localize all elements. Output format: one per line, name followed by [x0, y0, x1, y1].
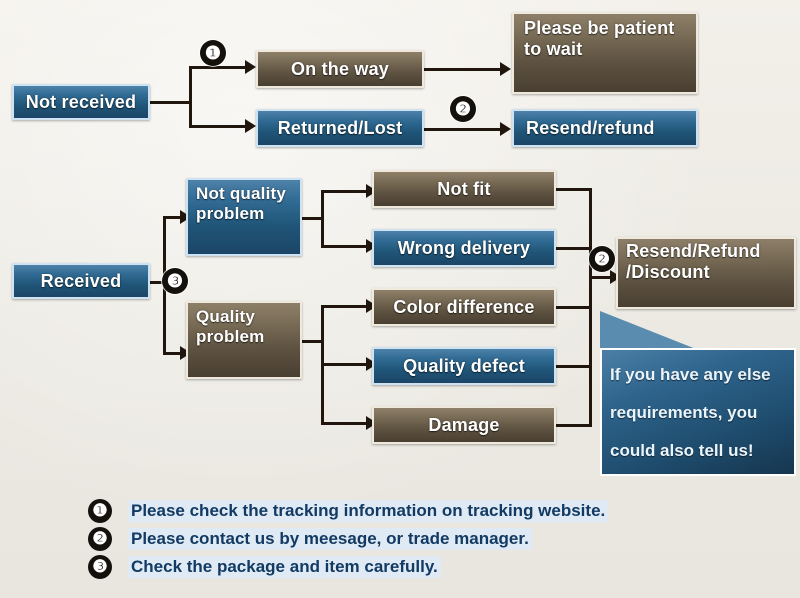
- node-not-quality-problem-line2: problem: [196, 204, 292, 224]
- legend-text-one: Please check the tracking information on…: [128, 500, 608, 522]
- legend-row: ❸ Check the package and item carefully.: [88, 553, 768, 581]
- connector-to-damage: [321, 422, 369, 425]
- node-quality-defect-label: Quality defect: [403, 356, 525, 377]
- node-quality-defect[interactable]: Quality defect: [372, 347, 556, 385]
- connector-merge-bus: [589, 188, 592, 427]
- connector-on-the-way-to-patient: [424, 68, 504, 71]
- connector-wrong-delivery-merge: [556, 247, 592, 250]
- legend-marker-three-label: ❸: [92, 557, 107, 576]
- node-resend-refund-discount-line1: Resend/Refund: [626, 241, 786, 262]
- badge-three-received-label: ❸: [167, 271, 183, 291]
- node-not-fit[interactable]: Not fit: [372, 170, 556, 208]
- node-on-the-way[interactable]: On the way: [256, 50, 424, 88]
- node-quality-problem-line2: problem: [196, 327, 292, 347]
- node-not-fit-label: Not fit: [437, 179, 490, 200]
- node-quality-problem-line1: Quality: [196, 307, 292, 327]
- node-resend-refund-discount[interactable]: Resend/Refund /Discount: [616, 237, 796, 309]
- legend-marker-two-label: ❷: [92, 529, 107, 548]
- node-color-difference-label: Color difference: [393, 297, 534, 318]
- node-on-the-way-label: On the way: [291, 59, 389, 80]
- node-returned-lost-label: Returned/Lost: [278, 118, 403, 139]
- node-please-be-patient-line2: to wait: [524, 39, 686, 60]
- node-resend-refund-label: Resend/refund: [526, 118, 655, 139]
- badge-two-top-label: ❷: [455, 99, 471, 119]
- arrow-to-returned-lost: [245, 119, 256, 133]
- arrow-to-on-the-way: [245, 60, 256, 74]
- node-not-quality-problem[interactable]: Not quality problem: [186, 178, 302, 256]
- badge-two-merge: ❷: [589, 246, 615, 272]
- badge-one-top: ❶: [200, 40, 226, 66]
- node-not-quality-problem-line1: Not quality: [196, 184, 292, 204]
- speech-bubble-line3: could also tell us!: [610, 441, 786, 461]
- node-please-be-patient[interactable]: Please be patient to wait: [512, 12, 698, 94]
- legend-text-two: Please contact us by meesage, or trade m…: [128, 528, 532, 550]
- speech-bubble[interactable]: If you have any else requirements, you c…: [600, 348, 796, 476]
- legend-marker-one: ❶: [88, 499, 112, 523]
- connector-to-returned-lost: [189, 125, 247, 128]
- node-wrong-delivery[interactable]: Wrong delivery: [372, 229, 556, 267]
- legend-row: ❶ Please check the tracking information …: [88, 497, 768, 525]
- legend-marker-three: ❸: [88, 555, 112, 579]
- badge-three-received: ❸: [162, 268, 188, 294]
- node-received-label: Received: [41, 271, 122, 292]
- connector-not-quality-split: [321, 190, 324, 248]
- connector-to-quality-defect: [321, 363, 369, 366]
- node-color-difference[interactable]: Color difference: [372, 288, 556, 326]
- connector-to-on-the-way: [189, 66, 247, 69]
- node-resend-refund-discount-line2: /Discount: [626, 262, 786, 283]
- node-please-be-patient-line1: Please be patient: [524, 18, 686, 39]
- speech-bubble-line1: If you have any else: [610, 365, 786, 385]
- node-damage-label: Damage: [428, 415, 499, 436]
- node-not-received-label: Not received: [26, 92, 136, 113]
- arrow-returned-to-resend: [500, 122, 511, 136]
- badge-two-merge-label: ❷: [594, 249, 610, 269]
- connector-not-received-split: [189, 66, 192, 128]
- node-resend-refund[interactable]: Resend/refund: [512, 109, 698, 147]
- arrow-on-the-way-to-patient: [500, 62, 511, 76]
- connector-to-wrong-delivery: [321, 245, 369, 248]
- node-damage[interactable]: Damage: [372, 406, 556, 444]
- connector-damage-merge: [556, 424, 592, 427]
- legend-row: ❷ Please contact us by meesage, or trade…: [88, 525, 768, 553]
- connector-returned-to-resend: [424, 128, 504, 131]
- legend-marker-one-label: ❶: [92, 501, 107, 520]
- node-not-received[interactable]: Not received: [12, 84, 150, 120]
- node-quality-problem[interactable]: Quality problem: [186, 301, 302, 379]
- connector-not-received-out: [150, 101, 192, 104]
- legend-marker-two: ❷: [88, 527, 112, 551]
- badge-one-top-label: ❶: [205, 43, 221, 63]
- connector-quality-defect-merge: [556, 365, 592, 368]
- node-returned-lost[interactable]: Returned/Lost: [256, 109, 424, 147]
- connector-color-difference-merge: [556, 306, 592, 309]
- flowchart-canvas: Not received On the way Returned/Lost Pl…: [0, 0, 800, 598]
- connector-not-fit-merge: [556, 188, 592, 191]
- badge-two-top: ❷: [450, 96, 476, 122]
- node-wrong-delivery-label: Wrong delivery: [398, 238, 531, 259]
- connector-to-color-difference: [321, 305, 369, 308]
- legend: ❶ Please check the tracking information …: [88, 497, 768, 581]
- legend-text-three: Check the package and item carefully.: [128, 556, 441, 578]
- node-received[interactable]: Received: [12, 263, 150, 299]
- speech-bubble-line2: requirements, you: [610, 403, 786, 423]
- connector-to-not-fit: [321, 190, 369, 193]
- speech-bubble-tail: [600, 311, 696, 349]
